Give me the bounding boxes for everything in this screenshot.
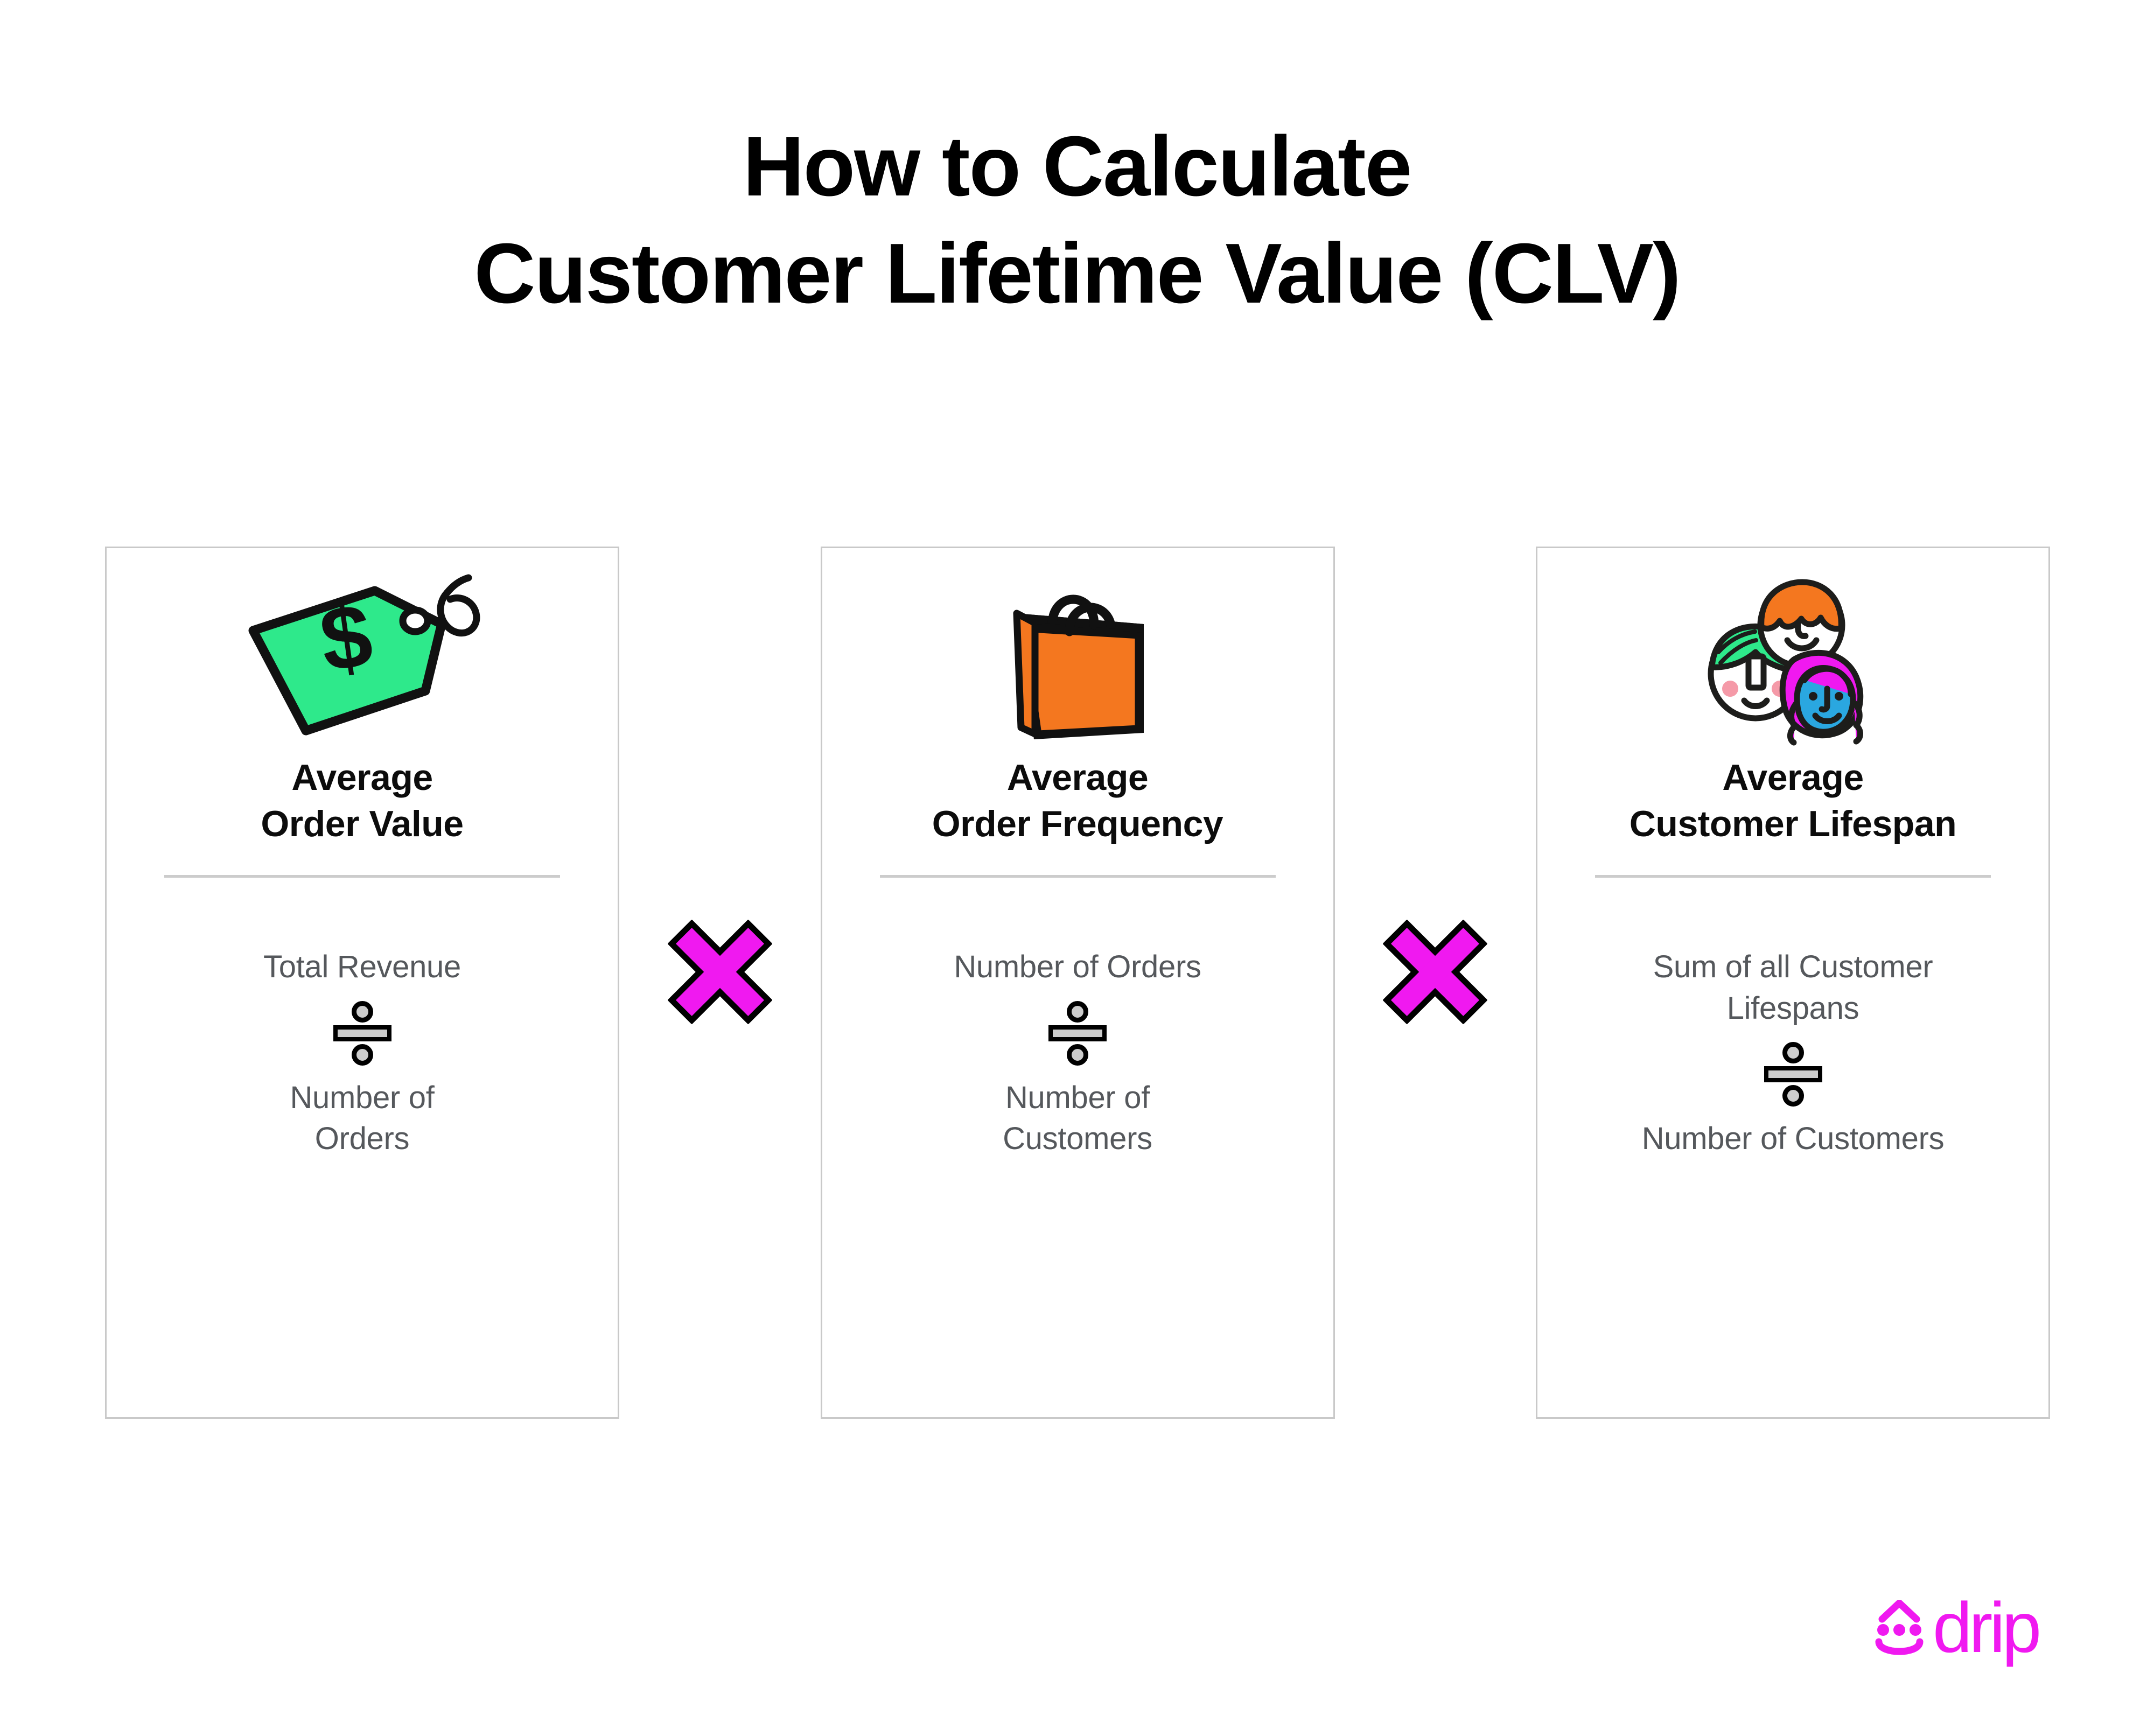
card-heading-line-2: Customer Lifespan [1630, 803, 1956, 844]
card-heading-line-1: Average [1722, 757, 1863, 798]
formula-denominator-line-1: Number of [290, 1080, 434, 1115]
formula-denominator: Number of Customers [1620, 1118, 1966, 1160]
formula-numerator-line-1: Sum of all Customer [1653, 949, 1933, 984]
operator-slot-2 [1335, 547, 1536, 1026]
divide-icon [1048, 1001, 1107, 1066]
multiply-icon [1381, 918, 1489, 1026]
card-heading: Average Order Frequency [911, 755, 1244, 847]
formula-numerator-line-2: Lifespans [1727, 991, 1859, 1026]
formula-block: Total Revenue Number of Orders [107, 947, 618, 1160]
card-average-customer-lifespan: Average Customer Lifespan Sum of all Cus… [1536, 547, 2050, 1419]
customer-faces-icon [1537, 548, 2048, 747]
divide-dot-bottom [1067, 1044, 1088, 1066]
card-heading-line-1: Average [291, 757, 432, 798]
page-title: How to Calculate Customer Lifetime Value… [0, 113, 2154, 327]
card-average-order-frequency: Average Order Frequency Number of Orders… [821, 547, 1335, 1419]
card-divider [164, 875, 560, 878]
card-divider [1595, 875, 1991, 878]
card-heading-line-1: Average [1007, 757, 1148, 798]
formula-denominator-line-2: Customers [1003, 1121, 1152, 1156]
divide-bar [1764, 1066, 1822, 1082]
formula-cards-row: $ Average Order Value Total Revenue Nu [105, 547, 2050, 1419]
card-heading-line-2: Order Value [261, 803, 463, 844]
formula-denominator-line-2: Orders [315, 1121, 409, 1156]
divide-dot-top [1782, 1042, 1804, 1063]
formula-denominator: Number of Orders [268, 1077, 456, 1160]
price-tag-dollar-icon: $ [107, 548, 618, 747]
formula-numerator: Number of Orders [932, 947, 1222, 988]
drip-logo[interactable]: drip [1871, 1591, 2097, 1672]
title-line-2: Customer Lifetime Value (CLV) [0, 220, 2154, 327]
formula-numerator: Total Revenue [242, 947, 482, 988]
card-divider [880, 875, 1276, 878]
divide-dot-bottom [1782, 1085, 1804, 1107]
formula-block: Number of Orders Number of Customers [822, 947, 1333, 1160]
formula-numerator: Sum of all Customer Lifespans [1632, 947, 1955, 1029]
divide-dot-bottom [352, 1044, 373, 1066]
divide-bar [1048, 1025, 1107, 1041]
multiply-icon [666, 918, 774, 1026]
formula-denominator-line-1: Number of [1005, 1080, 1150, 1115]
card-average-order-value: $ Average Order Value Total Revenue Nu [105, 547, 619, 1419]
divide-icon [1764, 1042, 1823, 1107]
divide-bar [333, 1025, 391, 1041]
operator-slot-1 [619, 547, 821, 1026]
title-line-1: How to Calculate [0, 113, 2154, 220]
card-heading-line-2: Order Frequency [932, 803, 1223, 844]
formula-block: Sum of all Customer Lifespans Number of … [1537, 947, 2048, 1160]
divide-icon [333, 1001, 392, 1066]
divide-dot-top [352, 1001, 373, 1023]
card-heading: Average Customer Lifespan [1608, 755, 1978, 847]
divide-dot-top [1067, 1001, 1088, 1023]
drip-smiley-drop-icon [1871, 1600, 1927, 1663]
drip-wordmark: drip [1933, 1592, 2038, 1663]
formula-denominator: Number of Customers [981, 1077, 1174, 1160]
card-heading: Average Order Value [239, 755, 485, 847]
shopping-bag-icon [822, 548, 1333, 747]
infographic-page: How to Calculate Customer Lifetime Value… [0, 0, 2154, 1736]
